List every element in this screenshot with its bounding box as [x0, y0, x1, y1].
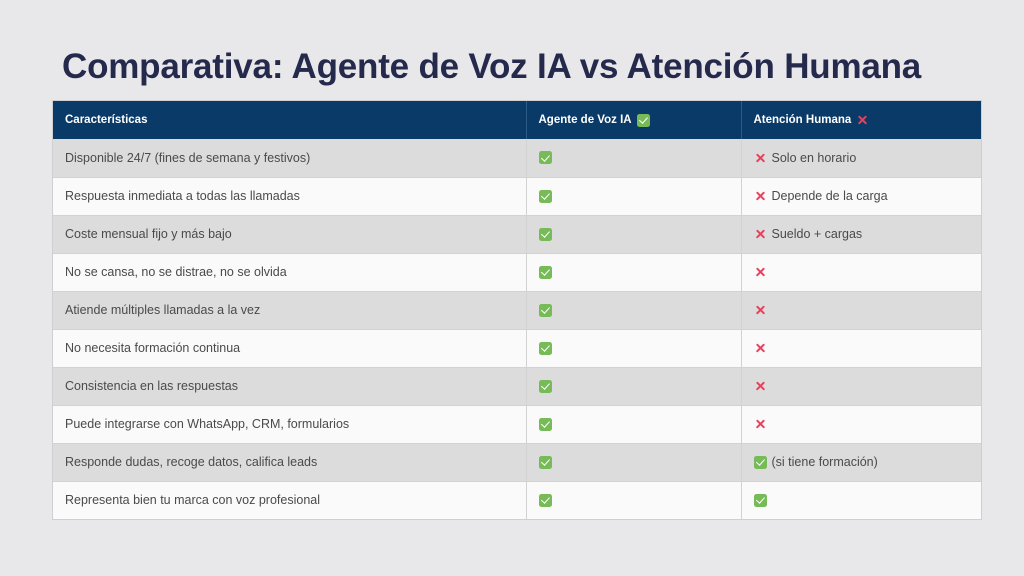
column-header-human-support-label: Atención Humana — [754, 114, 852, 126]
human-support-cell: Depende de la carga — [741, 177, 981, 215]
table-row: Representa bien tu marca con voz profesi… — [53, 481, 981, 519]
cross-icon — [754, 342, 767, 355]
column-header-features: Características — [53, 101, 526, 139]
table-row: Disponible 24/7 (fines de semana y festi… — [53, 139, 981, 177]
table-row: No se cansa, no se distrae, no se olvida — [53, 253, 981, 291]
table-row: Coste mensual fijo y más bajoSueldo + ca… — [53, 215, 981, 253]
ai-agent-cell-content — [539, 380, 741, 393]
ai-agent-cell-content — [539, 266, 741, 279]
human-support-cell — [741, 367, 981, 405]
feature-label: Responde dudas, recoge datos, califica l… — [65, 455, 317, 469]
feature-label: Consistencia en las respuestas — [65, 379, 238, 393]
ai-agent-cell — [526, 405, 741, 443]
feature-label: Disponible 24/7 (fines de semana y festi… — [65, 151, 310, 165]
ai-agent-cell-content — [539, 494, 741, 507]
table-row: Puede integrarse con WhatsApp, CRM, form… — [53, 405, 981, 443]
human-support-cell-content — [754, 418, 982, 431]
check-icon — [754, 494, 767, 507]
human-support-cell-label: Solo en horario — [772, 151, 857, 165]
human-support-cell: (si tiene formación) — [741, 443, 981, 481]
human-support-cell — [741, 481, 981, 519]
check-icon — [539, 151, 552, 164]
column-header-human-support: Atención Humana — [741, 101, 981, 139]
check-icon — [539, 380, 552, 393]
table-row: Respuesta inmediata a todas las llamadas… — [53, 177, 981, 215]
ai-agent-cell-content — [539, 304, 741, 317]
feature-cell: Atiende múltiples llamadas a la vez — [53, 291, 526, 329]
human-support-cell: Sueldo + cargas — [741, 215, 981, 253]
check-icon — [539, 304, 552, 317]
check-icon — [539, 494, 552, 507]
feature-label: Puede integrarse con WhatsApp, CRM, form… — [65, 417, 349, 431]
ai-agent-cell-content — [539, 151, 741, 164]
human-support-cell-content — [754, 266, 982, 279]
feature-label: Atiende múltiples llamadas a la vez — [65, 303, 260, 317]
ai-agent-cell — [526, 443, 741, 481]
human-support-cell-content: Depende de la carga — [754, 189, 982, 203]
check-icon — [539, 266, 552, 279]
cross-icon — [754, 418, 767, 431]
feature-label: No se cansa, no se distrae, no se olvida — [65, 265, 287, 279]
human-support-cell-content: Sueldo + cargas — [754, 227, 982, 241]
check-icon — [539, 418, 552, 431]
cross-icon — [754, 151, 767, 164]
human-support-cell-content — [754, 304, 982, 317]
ai-agent-cell-content — [539, 190, 741, 203]
human-support-cell-content: Solo en horario — [754, 151, 982, 165]
feature-cell: No necesita formación continua — [53, 329, 526, 367]
ai-agent-cell — [526, 177, 741, 215]
check-icon — [539, 190, 552, 203]
human-support-cell-content — [754, 380, 982, 393]
human-support-cell — [741, 329, 981, 367]
check-icon — [637, 114, 650, 127]
cross-icon — [754, 266, 767, 279]
ai-agent-cell-content — [539, 342, 741, 355]
table-header: Características Agente de Voz IA Atenció… — [53, 101, 981, 139]
ai-agent-cell — [526, 139, 741, 177]
human-support-cell — [741, 291, 981, 329]
ai-agent-cell-content — [539, 418, 741, 431]
human-support-cell — [741, 405, 981, 443]
ai-agent-cell — [526, 253, 741, 291]
human-support-cell: Solo en horario — [741, 139, 981, 177]
comparison-table-container: Características Agente de Voz IA Atenció… — [52, 100, 982, 520]
feature-cell: Disponible 24/7 (fines de semana y festi… — [53, 139, 526, 177]
ai-agent-cell — [526, 329, 741, 367]
table-row: Responde dudas, recoge datos, califica l… — [53, 443, 981, 481]
cross-icon — [754, 228, 767, 241]
table-header-row: Características Agente de Voz IA Atenció… — [53, 101, 981, 139]
check-icon — [539, 456, 552, 469]
table-body: Disponible 24/7 (fines de semana y festi… — [53, 139, 981, 519]
cross-icon — [754, 380, 767, 393]
human-support-cell-content: (si tiene formación) — [754, 455, 982, 469]
ai-agent-cell — [526, 291, 741, 329]
feature-cell: Coste mensual fijo y más bajo — [53, 215, 526, 253]
feature-label: Coste mensual fijo y más bajo — [65, 227, 232, 241]
human-support-cell-content — [754, 342, 982, 355]
human-support-cell — [741, 253, 981, 291]
ai-agent-cell — [526, 367, 741, 405]
column-header-ai-agent-label: Agente de Voz IA — [539, 114, 632, 126]
human-support-cell-content — [754, 494, 982, 507]
feature-cell: No se cansa, no se distrae, no se olvida — [53, 253, 526, 291]
human-support-cell-label: (si tiene formación) — [772, 455, 878, 469]
page-title: Comparativa: Agente de Voz IA vs Atenció… — [62, 45, 974, 89]
feature-cell: Responde dudas, recoge datos, califica l… — [53, 443, 526, 481]
human-support-cell-label: Depende de la carga — [772, 189, 888, 203]
feature-label: Respuesta inmediata a todas las llamadas — [65, 189, 300, 203]
column-header-ai-agent: Agente de Voz IA — [526, 101, 741, 139]
feature-cell: Puede integrarse con WhatsApp, CRM, form… — [53, 405, 526, 443]
ai-agent-cell-content — [539, 456, 741, 469]
table-row: No necesita formación continua — [53, 329, 981, 367]
cross-icon — [856, 114, 869, 127]
cross-icon — [754, 304, 767, 317]
table-row: Atiende múltiples llamadas a la vez — [53, 291, 981, 329]
check-icon — [754, 456, 767, 469]
feature-cell: Consistencia en las respuestas — [53, 367, 526, 405]
check-icon — [539, 228, 552, 241]
feature-cell: Respuesta inmediata a todas las llamadas — [53, 177, 526, 215]
ai-agent-cell-content — [539, 228, 741, 241]
check-icon — [539, 342, 552, 355]
ai-agent-cell — [526, 215, 741, 253]
feature-cell: Representa bien tu marca con voz profesi… — [53, 481, 526, 519]
human-support-cell-label: Sueldo + cargas — [772, 227, 863, 241]
comparison-table: Características Agente de Voz IA Atenció… — [53, 101, 981, 519]
table-row: Consistencia en las respuestas — [53, 367, 981, 405]
ai-agent-cell — [526, 481, 741, 519]
feature-label: No necesita formación continua — [65, 341, 240, 355]
feature-label: Representa bien tu marca con voz profesi… — [65, 493, 320, 507]
column-header-features-label: Características — [65, 114, 147, 126]
cross-icon — [754, 190, 767, 203]
